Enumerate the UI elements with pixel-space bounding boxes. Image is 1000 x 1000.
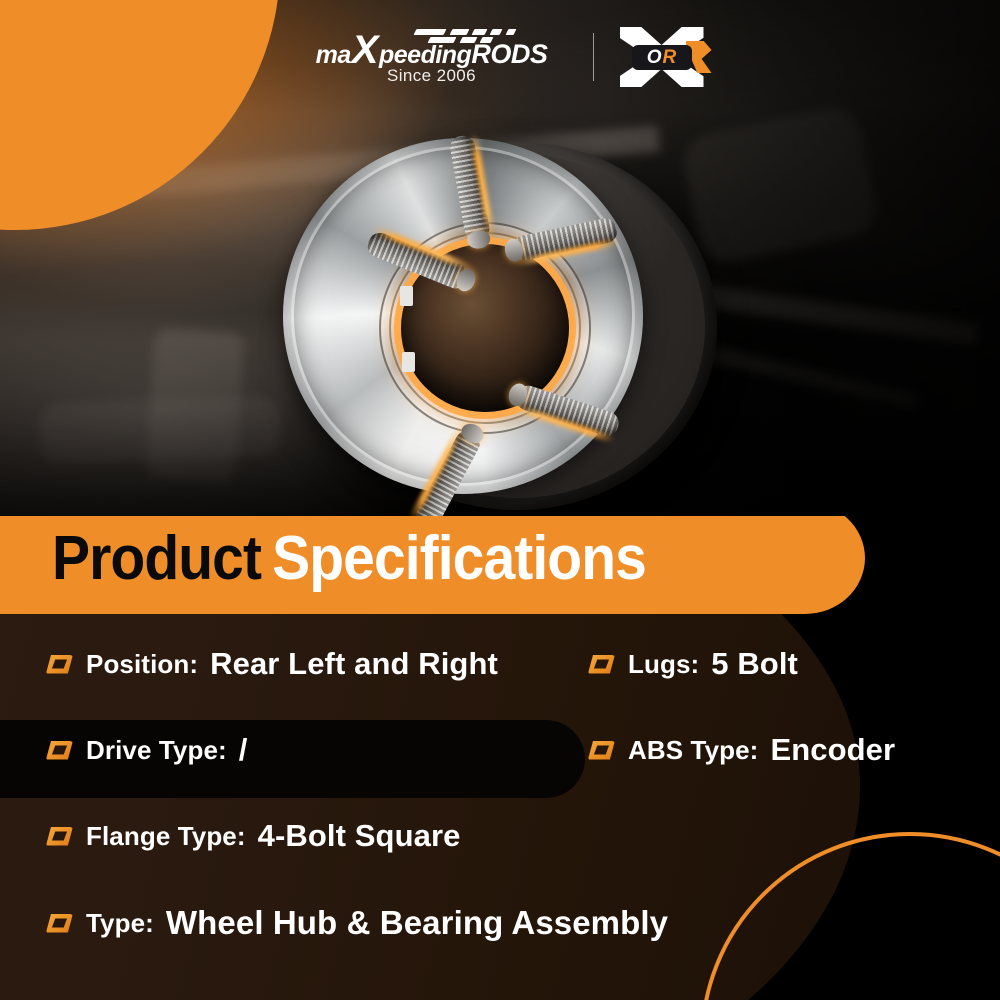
specifications-section: ProductSpecifications Position: Rear Lef… <box>0 516 1000 1000</box>
spec-value: Encoder <box>770 732 895 768</box>
brand-wordmark: ma X peeding RODS <box>297 34 567 70</box>
spec-row: Drive Type: / ABS Type: Encoder <box>0 714 1000 800</box>
spec-item-lugs: Lugs: 5 Bolt <box>588 646 798 682</box>
logo-letter-o: O <box>647 48 662 67</box>
brand-text-x: X <box>352 34 378 66</box>
bullet-parallelogram-icon <box>46 914 73 933</box>
spec-item-abs-type: ABS Type: Encoder <box>588 732 895 768</box>
bullet-parallelogram-icon <box>46 655 73 674</box>
logo-divider <box>593 33 594 81</box>
bullet-parallelogram-icon <box>588 655 615 674</box>
product-specification-card: ma X peeding RODS Since 2006 O R <box>0 0 1000 1000</box>
logo-letter-r: R <box>663 48 677 67</box>
spec-value: 4-Bolt Square <box>258 818 461 854</box>
title-word-product: Product <box>52 524 261 593</box>
spec-label: Type: <box>86 908 154 939</box>
spec-row: Position: Rear Left and Right Lugs: 5 Bo… <box>0 628 1000 714</box>
section-banner: ProductSpecifications <box>0 516 865 614</box>
spec-label: Lugs: <box>628 649 699 680</box>
spec-item-position: Position: Rear Left and Right <box>46 646 498 682</box>
hub-bore-notch <box>402 352 415 372</box>
bullet-parallelogram-icon <box>46 741 73 760</box>
bullet-parallelogram-icon <box>46 827 73 846</box>
brand-tagline: Since 2006 <box>297 66 567 86</box>
spec-value: 5 Bolt <box>711 646 798 682</box>
spec-label: Flange Type: <box>86 821 246 852</box>
brand-logo: ma X peeding RODS Since 2006 <box>297 26 567 88</box>
spec-value: Rear Left and Right <box>210 646 498 682</box>
logo-pill: O R <box>632 45 692 70</box>
bullet-parallelogram-icon <box>588 741 615 760</box>
logo-bar: ma X peeding RODS Since 2006 O R <box>0 26 1000 88</box>
spec-label: Drive Type: <box>86 735 227 766</box>
spec-label: Position: <box>86 649 198 680</box>
title-word-specifications: Specifications <box>272 524 646 593</box>
spec-item-flange-type: Flange Type: 4-Bolt Square <box>46 818 460 854</box>
spec-value: / <box>239 732 248 768</box>
spec-label: ABS Type: <box>628 735 758 766</box>
spec-item-drive-type: Drive Type: / <box>46 732 248 768</box>
hero-section: ma X peeding RODS Since 2006 O R <box>0 0 1000 516</box>
spec-value: Wheel Hub & Bearing Assembly <box>166 904 668 942</box>
secondary-logo: O R <box>620 27 704 87</box>
product-hub-image <box>255 120 725 510</box>
spec-item-type: Type: Wheel Hub & Bearing Assembly <box>46 904 668 942</box>
page-title: ProductSpecifications <box>52 523 646 594</box>
hub-bore-notch <box>400 286 413 306</box>
